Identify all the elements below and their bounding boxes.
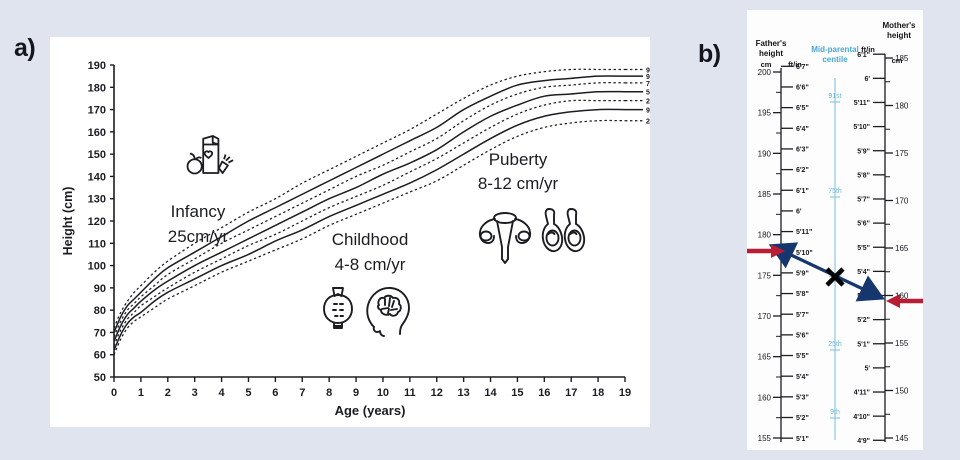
father-ft-label: 5'5" <box>796 353 809 360</box>
mother-ft-label: 5'10" <box>853 124 870 131</box>
y-tick-label: 120 <box>88 216 106 228</box>
father-cm-ticks: 200195190185180175170165160155 <box>758 68 781 443</box>
annotation-puberty-rate: 8-12 cm/yr <box>478 174 559 193</box>
mother-ft-label: 5'11" <box>854 100 870 107</box>
mother-cm-label: 175 <box>895 149 909 158</box>
x-tick-label: 13 <box>458 387 470 399</box>
father-ft-label: 6'5" <box>796 105 809 112</box>
father-cm-label: 180 <box>758 231 772 240</box>
x-tick-label: 7 <box>299 387 305 399</box>
y-tick-label: 100 <box>88 261 106 273</box>
figure-root: a) b) 5060708090100110120130140150160170… <box>0 0 960 460</box>
x-tick-label: 17 <box>565 387 577 399</box>
mother-ft-label: 4'10" <box>853 414 870 421</box>
x-tick-label: 11 <box>404 387 416 399</box>
annotation-puberty: Puberty 8-12 cm/yr <box>478 150 584 263</box>
father-ft-label: 6'1" <box>796 188 809 195</box>
midparental-centile-label: 75th <box>828 188 842 195</box>
mother-ft-label: 6' <box>864 76 870 83</box>
nutrition-icon <box>188 136 234 174</box>
centile-end-label-9: 9 <box>646 108 650 115</box>
mother-cm-label: 155 <box>895 339 909 348</box>
centile-labels: 989175502592 <box>625 67 650 125</box>
midparental-title-line1: Mid-parental <box>811 45 859 54</box>
father-title-line2: height <box>759 49 783 58</box>
mother-ft-label: 5' <box>864 365 870 372</box>
mother-ft-label: 4'9" <box>857 438 870 445</box>
x-tick-label: 14 <box>484 387 497 399</box>
x-tick-label: 4 <box>219 387 226 399</box>
father-scale[interactable]: 200195190185180175170165160155 6'7"6'6"6… <box>758 64 813 443</box>
centile-end-label-2: 2 <box>646 119 650 126</box>
father-cm-label: 195 <box>758 109 772 118</box>
father-ft-label: 6' <box>796 209 802 216</box>
father-ft-label: 6'4" <box>796 126 809 133</box>
mother-ft-label: 5'6" <box>857 221 870 228</box>
father-ft-label: 6'6" <box>796 85 809 92</box>
growth-chart-panel: 5060708090100110120130140150160170180190… <box>50 37 650 427</box>
mother-cm-label: 185 <box>895 54 909 63</box>
annotation-childhood: Childhood 4-8 cm/yr <box>324 230 409 336</box>
y-tick-label: 190 <box>88 60 106 72</box>
father-ft-label: 5'7" <box>796 312 809 319</box>
annotation-childhood-rate: 4-8 cm/yr <box>335 255 406 274</box>
x-tick-label: 2 <box>165 387 171 399</box>
midparental-nomogram-panel: Father's height cm ft/in Mother's height… <box>747 10 923 450</box>
father-cm-label: 170 <box>758 312 772 321</box>
annotation-puberty-title: Puberty <box>489 150 548 169</box>
father-cm-label: 160 <box>758 393 772 402</box>
father-ft-label: 5'2" <box>796 415 809 422</box>
x-tick-label: 12 <box>431 387 443 399</box>
y-tick-label: 90 <box>94 283 106 295</box>
mother-ft-label: 5'7" <box>857 197 870 204</box>
x-tick-label: 0 <box>111 387 117 399</box>
mother-cm-label: 145 <box>895 434 909 443</box>
mother-ft-label: 5'3" <box>857 293 870 300</box>
annotation-infancy: Infancy 25cm/yr <box>168 136 233 246</box>
x-tick-label: 6 <box>272 387 278 399</box>
mother-ft-label: 5'5" <box>857 245 870 252</box>
x-axis-title: Age (years) <box>335 403 406 418</box>
annotation-infancy-title: Infancy <box>171 202 226 221</box>
centile-end-label-75: 75 <box>646 81 650 88</box>
father-cm-label: 175 <box>758 271 772 280</box>
x-axis-ticks: 012345678910111213141516171819 <box>111 377 631 399</box>
thyroid-brain-icon <box>324 288 409 336</box>
midparental-centile-label: 9th <box>830 409 840 416</box>
y-tick-label: 60 <box>94 350 106 362</box>
mother-ft-label: 5'1" <box>857 341 870 348</box>
mother-ft-ticks: 6'1"6'5'11"5'10"5'9"5'8"5'7"5'6"5'5"5'4"… <box>853 52 885 445</box>
y-tick-label: 150 <box>88 149 106 161</box>
father-ft-label: 5'10" <box>796 250 813 257</box>
y-tick-label: 110 <box>88 238 106 250</box>
mother-title-line1: Mother's <box>882 21 916 30</box>
father-cm-label: 200 <box>758 68 772 77</box>
centile-end-label-50: 50 <box>646 90 650 97</box>
father-cm-label: 155 <box>758 434 772 443</box>
father-ft-label: 6'7" <box>796 64 809 71</box>
y-tick-label: 50 <box>94 372 106 384</box>
y-tick-label: 180 <box>88 82 106 94</box>
panel-b-letter: b) <box>698 40 721 69</box>
annotation-childhood-title: Childhood <box>332 230 409 249</box>
midparental-centile-label: 25th <box>828 341 842 348</box>
growth-chart-svg: 5060708090100110120130140150160170180190… <box>50 37 650 427</box>
father-ft-label: 5'6" <box>796 332 809 339</box>
mother-cm-label: 180 <box>895 102 909 111</box>
y-tick-label: 70 <box>94 327 106 339</box>
father-cm-label: 185 <box>758 190 772 199</box>
midparental-centile-label: 91st <box>828 93 841 100</box>
y-axis-title: Height (cm) <box>61 187 75 256</box>
x-tick-label: 10 <box>377 387 389 399</box>
father-ft-label: 6'3" <box>796 147 809 154</box>
midparental-title-line2: centile <box>822 55 848 64</box>
mother-cm-label: 165 <box>895 244 909 253</box>
mother-ft-label: 4'11" <box>854 390 870 397</box>
x-tick-label: 19 <box>619 387 631 399</box>
father-cm-label: 165 <box>758 353 772 362</box>
chart-axes <box>114 65 625 377</box>
x-tick-label: 1 <box>138 387 144 399</box>
y-tick-label: 80 <box>94 305 106 317</box>
nomogram-svg: Father's height cm ft/in Mother's height… <box>747 10 923 450</box>
centile-curve-98 <box>114 69 625 328</box>
x-tick-label: 3 <box>192 387 198 399</box>
gonads-icon <box>480 209 584 263</box>
x-tick-label: 15 <box>511 387 523 399</box>
mother-scale[interactable]: 185180175170165160155150145 6'1"6'5'11"5… <box>853 52 909 445</box>
father-ft-label: 5'3" <box>796 394 809 401</box>
father-ft-label: 5'8" <box>796 291 809 298</box>
father-title-line1: Father's <box>756 39 787 48</box>
mother-ft-label: 5'4" <box>857 269 870 276</box>
y-tick-label: 160 <box>88 127 106 139</box>
x-tick-label: 9 <box>353 387 359 399</box>
mother-ft-label: 5'8" <box>857 172 870 179</box>
mother-ft-label: 5'2" <box>857 317 870 324</box>
y-tick-label: 130 <box>88 194 106 206</box>
x-tick-label: 16 <box>538 387 550 399</box>
centile-end-label-25: 25 <box>646 99 650 106</box>
y-axis-ticks: 5060708090100110120130140150160170180190 <box>88 60 114 384</box>
father-ft-ticks: 6'7"6'6"6'5"6'4"6'3"6'2"6'1"6'5'11"5'10"… <box>781 64 813 443</box>
father-height-pointer <box>747 244 785 258</box>
x-tick-label: 8 <box>326 387 332 399</box>
y-tick-label: 170 <box>88 105 106 117</box>
midparental-scale[interactable]: Mid-parental centile 91st75th50th25th9th <box>811 45 859 440</box>
x-tick-label: 5 <box>245 387 251 399</box>
mother-cm-label: 170 <box>895 197 909 206</box>
annotation-infancy-rate: 25cm/yr <box>168 227 229 246</box>
x-tick-label: 18 <box>592 387 604 399</box>
mother-cm-ticks: 185180175170165160155150145 <box>885 54 909 443</box>
y-tick-label: 140 <box>88 171 106 183</box>
mother-ft-label: 6'1" <box>857 52 870 59</box>
mother-cm-label: 150 <box>895 387 909 396</box>
father-ft-label: 5'9" <box>796 270 809 277</box>
father-ft-label: 5'11" <box>796 229 812 236</box>
father-ft-label: 5'4" <box>796 374 809 381</box>
mother-ft-label: 5'9" <box>857 148 870 155</box>
father-ft-label: 5'1" <box>796 436 809 443</box>
mother-title-line2: height <box>887 31 911 40</box>
panel-a-letter: a) <box>14 34 35 63</box>
father-cm-label: 190 <box>758 149 772 158</box>
father-ft-label: 6'2" <box>796 167 809 174</box>
